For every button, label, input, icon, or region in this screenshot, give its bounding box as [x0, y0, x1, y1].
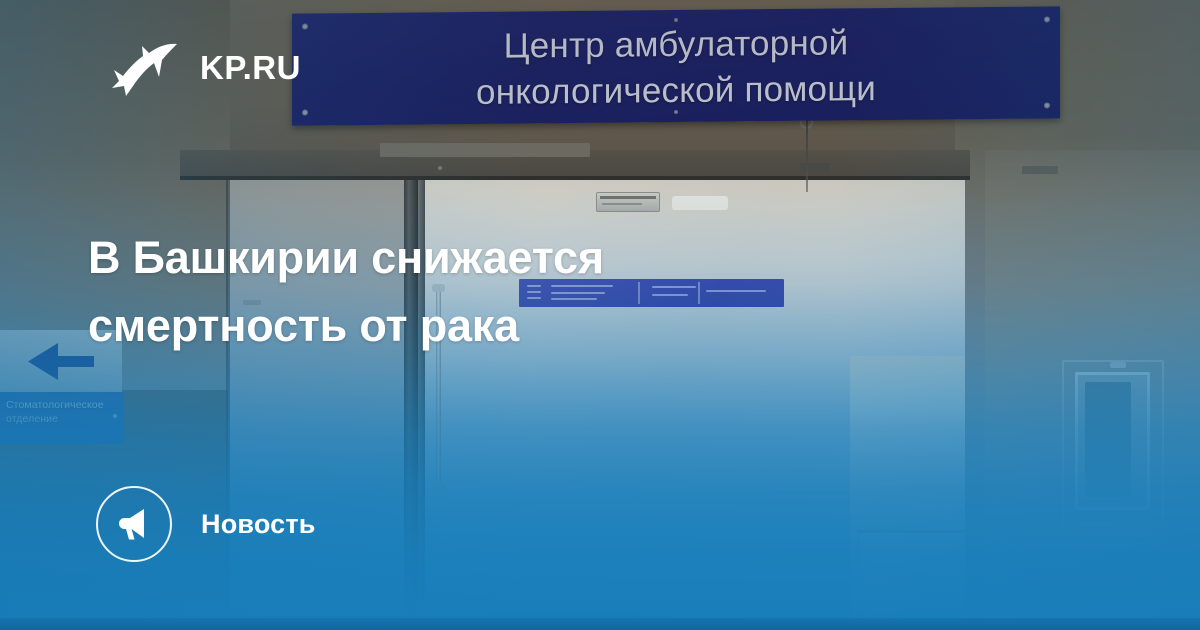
dental-sign-line-2: отделение: [6, 412, 124, 426]
brand-name: KP.RU: [200, 51, 301, 84]
corridor-ceiling: [850, 356, 965, 452]
swallow-bird-icon: [112, 30, 178, 104]
page-title: В Башкирии снижается смертность от рака: [88, 224, 788, 360]
right-door-fitting: [1110, 362, 1126, 368]
badge-icon-circle: [96, 486, 172, 562]
door-motion-sensor: [672, 196, 728, 210]
door-handle-bracket: [432, 482, 445, 490]
header-screw: [438, 166, 442, 170]
corridor-back-door-glass: [865, 540, 923, 630]
arrow-left-icon: [28, 338, 96, 384]
sign-hanging-wire: [806, 120, 808, 192]
door-header-edge: [180, 176, 970, 180]
ceiling-sign-text: Центр амбулаторной онкологической помощи: [292, 18, 1060, 117]
content-type-badge[interactable]: Новость: [96, 486, 316, 562]
door-rail-mount: [800, 163, 830, 173]
door-operator-box: [596, 192, 660, 212]
door-top-plate: [380, 143, 590, 157]
social-share-card: Центр амбулаторной онкологической помощи…: [0, 0, 1200, 630]
door-rail-mount: [1022, 166, 1058, 174]
right-door-glass: [1085, 382, 1131, 497]
ceiling-sign-line-2: онкологической помощи: [292, 64, 1060, 117]
brand-logo[interactable]: KP.RU: [112, 30, 301, 104]
dental-sign-line-1: Стоматологическое: [6, 398, 124, 412]
ceiling-department-sign: Центр амбулаторной онкологической помощи: [292, 6, 1060, 125]
door-operator-slot: [600, 196, 656, 199]
ceiling-sign-line-1: Центр амбулаторной: [292, 18, 1060, 71]
megaphone-icon: [113, 503, 155, 545]
badge-label: Новость: [201, 509, 316, 540]
dental-sign-text: Стоматологическое отделение: [6, 398, 124, 426]
door-operator-label: [602, 203, 642, 205]
